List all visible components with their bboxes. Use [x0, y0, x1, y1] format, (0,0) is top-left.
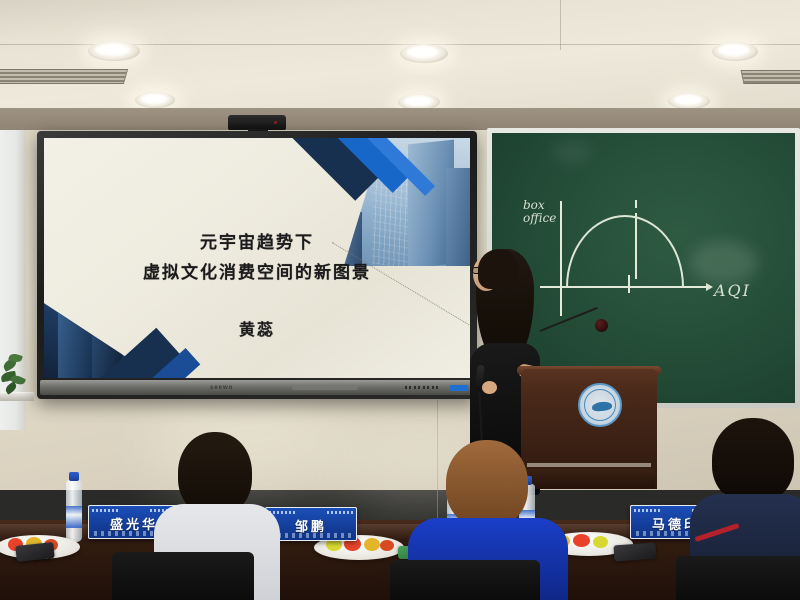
ceiling-air-vent — [0, 69, 128, 84]
webcam-icon — [228, 115, 286, 130]
conference-room-scene: 元宇宙趋势下 虚拟文化消费空间的新图景 黄蕊 seewo — [0, 0, 800, 600]
display-bezel-bar: seewo — [40, 380, 474, 395]
interactive-display[interactable]: 元宇宙趋势下 虚拟文化消费空间的新图景 黄蕊 seewo — [37, 131, 477, 399]
chalk-x-axis-label: AQI — [714, 281, 751, 300]
slide-title-line1: 元宇宙趋势下 — [44, 228, 470, 253]
potted-plant — [1, 352, 31, 396]
presenter-hand — [482, 381, 497, 394]
ceiling-seam — [560, 0, 561, 50]
slide-title-line2: 虚拟文化消费空间的新图景 — [44, 258, 470, 283]
water-bottle — [66, 480, 82, 542]
audience-head — [446, 440, 528, 528]
podium-microphone-head — [595, 319, 608, 332]
audience-head — [712, 418, 794, 504]
chalk-curve — [566, 215, 684, 287]
slide-author: 黄蕊 — [44, 316, 470, 340]
chalk-marker-line — [635, 200, 637, 208]
ceiling-light — [88, 41, 140, 61]
chair — [676, 556, 800, 600]
ceiling-light — [135, 92, 175, 108]
chalk-smudge — [690, 241, 758, 285]
display-control-buttons[interactable] — [405, 386, 439, 390]
display-speaker-slot — [292, 386, 358, 390]
chalk-x-arrowhead — [706, 283, 713, 291]
display-screen[interactable]: 元宇宙趋势下 虚拟文化消费空间的新图景 黄蕊 — [44, 138, 470, 378]
seewo-brand-label: seewo — [210, 385, 233, 391]
display-power-indicator[interactable] — [450, 385, 468, 391]
mobile-phone[interactable] — [613, 543, 656, 562]
presentation-slide: 元宇宙趋势下 虚拟文化消费空间的新图景 黄蕊 — [44, 138, 470, 378]
chalk-y-axis-label: box office — [523, 199, 563, 225]
ceiling-light — [668, 93, 710, 109]
university-seal-icon — [578, 383, 622, 427]
chalk-smudge — [552, 141, 592, 163]
ceiling-light — [400, 44, 448, 63]
chair — [112, 552, 254, 600]
presenter-hair-front — [478, 249, 518, 289]
ceiling-light — [712, 42, 758, 61]
ceiling-air-vent — [741, 70, 800, 84]
chair — [390, 560, 540, 600]
